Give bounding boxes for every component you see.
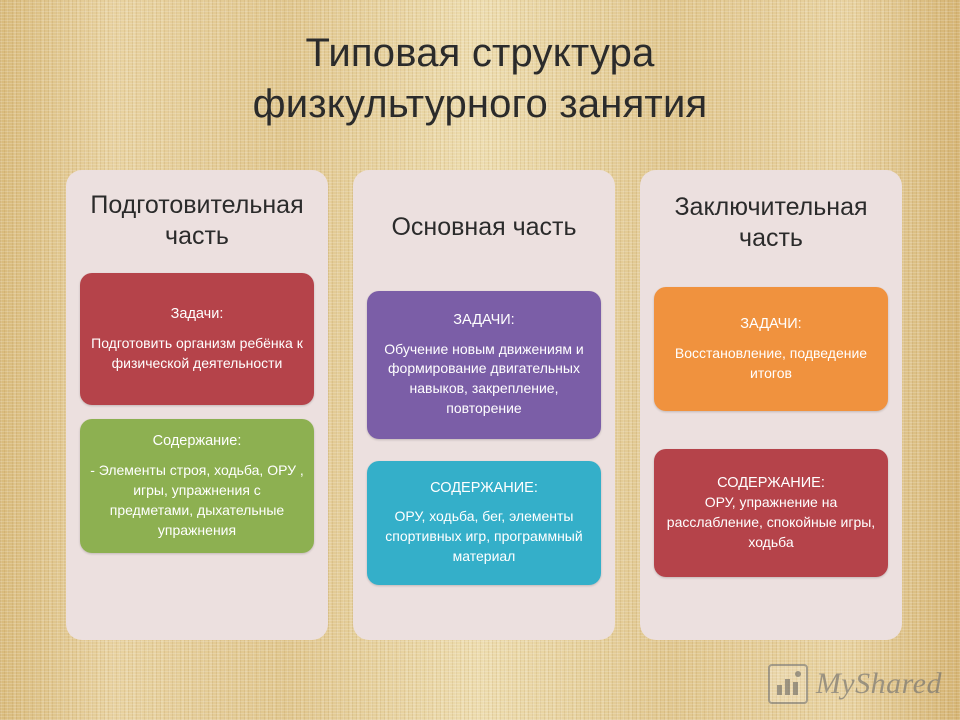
spacer bbox=[654, 411, 888, 449]
card-label: ЗАДАЧИ: bbox=[377, 310, 591, 331]
watermark: MyShared bbox=[768, 664, 942, 704]
chart-logo-icon bbox=[768, 664, 808, 704]
column-main: Основная часть ЗАДАЧИ: Обучение новым дв… bbox=[353, 170, 615, 640]
column-heading-final: Заключительная часть bbox=[654, 186, 888, 253]
watermark-text: MyShared bbox=[816, 667, 942, 701]
page-title: Типовая структура физкультурного занятия bbox=[0, 28, 960, 130]
column-final: Заключительная часть ЗАДАЧИ: Восстановле… bbox=[640, 170, 902, 640]
card-label: ЗАДАЧИ: bbox=[664, 314, 878, 335]
card-preparatory-tasks: Задачи: Подготовить организм ребёнка к ф… bbox=[80, 273, 314, 405]
card-preparatory-content: Содержание: - Элементы строя, ходьба, ОР… bbox=[80, 419, 314, 553]
column-preparatory: Подготовительная часть Задачи: Подготови… bbox=[66, 170, 328, 640]
logo-bar bbox=[793, 682, 798, 695]
card-main-tasks: ЗАДАЧИ: Обучение новым движениям и форми… bbox=[367, 291, 601, 439]
spacer bbox=[367, 439, 601, 461]
structure-columns: Подготовительная часть Задачи: Подготови… bbox=[66, 170, 902, 640]
column-heading-main: Основная часть bbox=[367, 206, 601, 243]
logo-bar bbox=[785, 679, 790, 695]
card-text: Обучение новым движениям и формирование … bbox=[377, 340, 591, 420]
slide-canvas: Типовая структура физкультурного занятия… bbox=[0, 0, 960, 720]
card-main-content: СОДЕРЖАНИЕ: ОРУ, ходьба, бег, элементы с… bbox=[367, 461, 601, 585]
logo-dot bbox=[795, 671, 801, 677]
card-text: ОРУ, упражнение на расслабление, спокойн… bbox=[664, 493, 878, 553]
card-label: СОДЕРЖАНИЕ: bbox=[377, 478, 591, 499]
card-final-tasks: ЗАДАЧИ: Восстановление, подведение итого… bbox=[654, 287, 888, 411]
card-final-content: СОДЕРЖАНИЕ: ОРУ, упражнение на расслабле… bbox=[654, 449, 888, 577]
page-title-line-1: Типовая структура bbox=[0, 28, 960, 79]
card-label: СОДЕРЖАНИЕ: bbox=[664, 473, 878, 494]
card-text: Подготовить организм ребёнка к физическо… bbox=[90, 334, 304, 374]
page-title-line-2: физкультурного занятия bbox=[0, 79, 960, 130]
card-text: - Элементы строя, ходьба, ОРУ , игры, уп… bbox=[90, 461, 304, 541]
logo-bar bbox=[777, 685, 782, 695]
column-heading-preparatory: Подготовительная часть bbox=[80, 184, 314, 251]
card-label: Содержание: bbox=[90, 431, 304, 452]
card-text: Восстановление, подведение итогов bbox=[664, 344, 878, 384]
card-label: Задачи: bbox=[90, 304, 304, 325]
card-text: ОРУ, ходьба, бег, элементы спортивных иг… bbox=[377, 507, 591, 567]
